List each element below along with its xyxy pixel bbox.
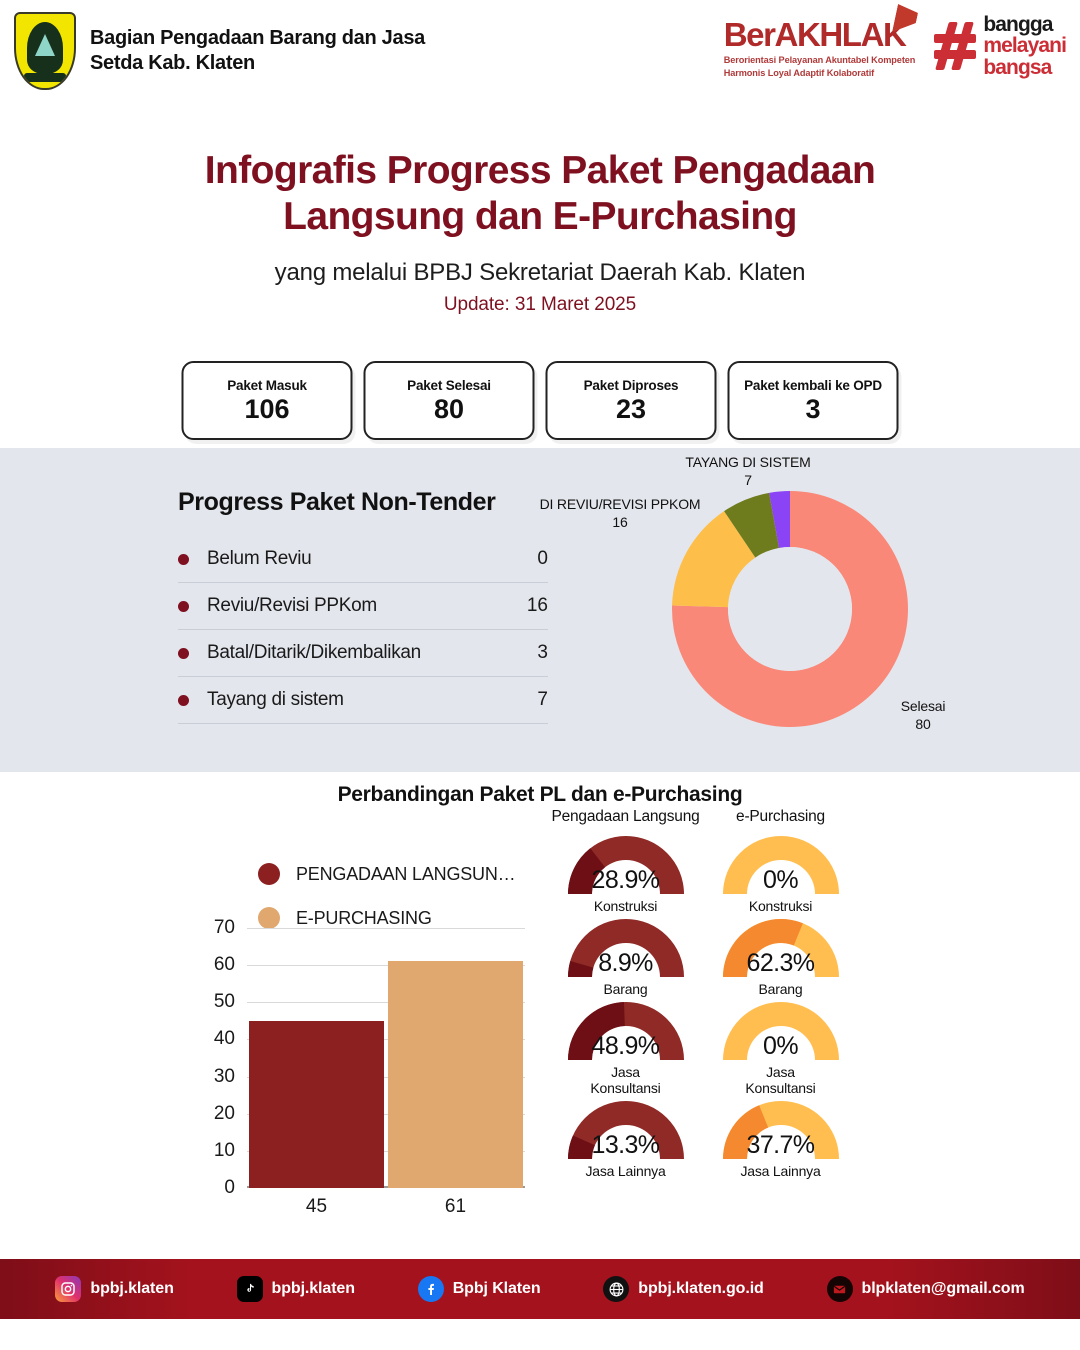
footer-label: bpbj.klaten	[90, 1280, 173, 1298]
gauge-percent-value: 37.7%	[719, 1133, 843, 1158]
legend-swatch	[258, 863, 280, 885]
gauge-percent-value: 0%	[719, 1034, 843, 1059]
gauge-visual: 48.9%	[564, 998, 688, 1062]
donut-label-value: 16	[530, 514, 710, 532]
stat-value: 3	[805, 396, 820, 423]
gauge-caption: JasaKonsultansi	[745, 1064, 815, 1098]
donut-label-name: DI REVIU/REVISI PPKOM	[530, 496, 710, 514]
gauge-rows: 28.9%Konstruksi0%Konstruksi8.9%Barang62.…	[548, 832, 858, 1180]
berakhlak-tagline-line-1: Berorientasi Pelayanan Akuntabel Kompete…	[724, 54, 916, 67]
page-title-line-2: Langsung dan E-Purchasing	[0, 194, 1080, 240]
gauge-grid: Pengadaan Langsung e-Purchasing 28.9%Kon…	[548, 808, 858, 1180]
gauge-visual: 62.3%	[719, 915, 843, 979]
gauge-row: 8.9%Barang62.3%Barang	[548, 915, 858, 998]
list-item-label: Tayang di sistem	[207, 689, 537, 711]
gauge-visual: 37.7%	[719, 1097, 843, 1161]
bangga-word-3: bangsa	[983, 57, 1066, 78]
berakhlak-wordmark: BerAKHLAK	[724, 18, 916, 51]
bangga-word-2: melayani	[983, 35, 1066, 56]
bullet-icon	[178, 554, 189, 565]
list-item-label: Batal/Ditarik/Dikembalikan	[207, 642, 537, 664]
summary-stat-cards: Paket Masuk 106 Paket Selesai 80 Paket D…	[182, 361, 899, 440]
gauge-cell: 28.9%Konstruksi	[548, 832, 703, 915]
berakhlak-logo: BerAKHLAK Berorientasi Pelayanan Akuntab…	[724, 14, 916, 81]
gauge-caption: Barang	[604, 981, 648, 998]
bangga-melayani-bangsa-logo: bangga melayani bangsa	[933, 14, 1066, 78]
instagram-icon	[55, 1276, 81, 1302]
berakhlak-tagline-line-2: Harmonis Loyal Adaptif Kolaboratif	[724, 67, 916, 80]
list-item: Batal/Ditarik/Dikembalikan 3	[178, 630, 548, 677]
gauge-caption: Jasa Lainnya	[585, 1163, 665, 1180]
legend-label: E-PURCHASING	[296, 908, 432, 929]
stat-label: Paket kembali ke OPD	[744, 378, 882, 393]
page-title: Infografis Progress Paket Pengadaan Lang…	[0, 148, 1080, 239]
list-item-value: 0	[537, 548, 548, 570]
non-tender-donut-chart: TAYANG DI SISTEM 7 DI REVIU/REVISI PPKOM…	[640, 474, 940, 744]
footer-label: bpbj.klaten	[272, 1280, 355, 1298]
stat-card-paket-kembali-opd: Paket kembali ke OPD 3	[728, 361, 899, 440]
gauge-percent-value: 0%	[719, 868, 843, 893]
gauge-cell: 13.3%Jasa Lainnya	[548, 1097, 703, 1180]
bar-chart-y-tick-label: 40	[195, 1028, 235, 1050]
gauge-cell: 48.9%JasaKonsultansi	[548, 998, 703, 1098]
gauge-percent-value: 13.3%	[564, 1133, 688, 1158]
bangga-word-1: bangga	[983, 14, 1066, 35]
donut-label-value: 7	[658, 472, 838, 490]
bar-chart-gridline	[247, 928, 525, 929]
legend-swatch	[258, 907, 280, 929]
comparison-bar-chart: 010203040506070 4561	[195, 928, 525, 1218]
donut-label-selesai: Selesai 80	[868, 698, 978, 733]
organization-brand: Bagian Pengadaan Barang dan Jasa Setda K…	[14, 12, 425, 90]
gauge-caption: Konstruksi	[594, 898, 657, 915]
gauge-row: 13.3%Jasa Lainnya37.7%Jasa Lainnya	[548, 1097, 858, 1180]
donut-label-tayang: TAYANG DI SISTEM 7	[658, 454, 838, 489]
gauge-cell: 0%JasaKonsultansi	[703, 998, 858, 1098]
gauge-visual: 28.9%	[564, 832, 688, 896]
stat-card-paket-selesai: Paket Selesai 80	[364, 361, 535, 440]
footer-item-tiktok[interactable]: bpbj.klaten	[237, 1276, 355, 1302]
globe-icon	[603, 1276, 629, 1302]
gauge-percent-value: 48.9%	[564, 1034, 688, 1059]
gauge-cell: 0%Konstruksi	[703, 832, 858, 915]
bar-chart-y-axis: 010203040506070	[195, 928, 235, 1188]
bar-chart-y-tick-label: 10	[195, 1140, 235, 1162]
hashtag-icon	[933, 22, 977, 70]
stat-card-paket-masuk: Paket Masuk 106	[182, 361, 353, 440]
footer-label: Bpbj Klaten	[453, 1280, 541, 1298]
title-block: Infografis Progress Paket Pengadaan Lang…	[0, 148, 1080, 316]
gauge-caption: Barang	[759, 981, 803, 998]
bar-chart-plot-area	[247, 928, 525, 1188]
footer-item-email[interactable]: blpklaten@gmail.com	[827, 1276, 1025, 1302]
stat-value: 23	[616, 396, 646, 423]
organization-line-2: Setda Kab. Klaten	[90, 51, 425, 76]
bar-chart-y-tick-label: 70	[195, 917, 235, 939]
email-icon	[827, 1276, 853, 1302]
gauge-percent-value: 8.9%	[564, 951, 688, 976]
list-item-label: Belum Reviu	[207, 548, 537, 570]
donut-label-name: Selesai	[868, 698, 978, 716]
legend-label: PENGADAAN LANGSUN…	[296, 864, 515, 885]
gauge-visual: 13.3%	[564, 1097, 688, 1161]
footer-label: bpbj.klaten.go.id	[638, 1280, 763, 1298]
gauge-caption: JasaKonsultansi	[590, 1064, 660, 1098]
page-subtitle: yang melalui BPBJ Sekretariat Daerah Kab…	[0, 259, 1080, 287]
header: Bagian Pengadaan Barang dan Jasa Setda K…	[0, 0, 1080, 110]
bullet-icon	[178, 648, 189, 659]
stat-card-paket-diproses: Paket Diproses 23	[546, 361, 717, 440]
update-date: Update: 31 Maret 2025	[0, 294, 1080, 316]
bar-chart-y-tick-label: 30	[195, 1066, 235, 1088]
stat-label: Paket Selesai	[407, 378, 491, 393]
list-item: Reviu/Revisi PPKom 16	[178, 583, 548, 630]
list-item: Tayang di sistem 7	[178, 677, 548, 724]
footer-item-instagram[interactable]: bpbj.klaten	[55, 1276, 173, 1302]
tiktok-icon	[237, 1276, 263, 1302]
stat-label: Paket Diproses	[584, 378, 679, 393]
organization-name: Bagian Pengadaan Barang dan Jasa Setda K…	[90, 26, 425, 76]
gauge-percent-value: 28.9%	[564, 868, 688, 893]
stat-value: 80	[434, 396, 464, 423]
stat-value: 106	[244, 396, 289, 423]
donut-label-value: 80	[868, 716, 978, 734]
footer-contact-bar: bpbj.klaten bpbj.klaten Bpbj Klaten	[0, 1259, 1080, 1319]
bar-chart-legend: PENGADAAN LANGSUN… E-PURCHASING	[258, 852, 515, 940]
comparison-title: Perbandingan Paket PL dan e-Purchasing	[0, 783, 1080, 807]
bar-chart-y-tick-label: 50	[195, 991, 235, 1013]
gauge-visual: 0%	[719, 998, 843, 1062]
klaten-emblem-icon	[14, 12, 76, 90]
gauge-row: 28.9%Konstruksi0%Konstruksi	[548, 832, 858, 915]
gauge-visual: 0%	[719, 832, 843, 896]
gauge-column-header-left: Pengadaan Langsung	[548, 808, 703, 826]
bar-chart-y-tick-label: 20	[195, 1103, 235, 1125]
organization-line-1: Bagian Pengadaan Barang dan Jasa	[90, 26, 425, 51]
list-item-value: 3	[537, 642, 548, 664]
footer-item-facebook[interactable]: Bpbj Klaten	[418, 1276, 541, 1302]
bullet-icon	[178, 601, 189, 612]
gauge-cell: 37.7%Jasa Lainnya	[703, 1097, 858, 1180]
footer-label: blpklaten@gmail.com	[862, 1280, 1025, 1298]
berakhlak-tagline: Berorientasi Pelayanan Akuntabel Kompete…	[724, 54, 916, 81]
list-item: Belum Reviu 0	[178, 536, 548, 583]
gauge-cell: 62.3%Barang	[703, 915, 858, 998]
donut-label-reviu: DI REVIU/REVISI PPKOM 16	[530, 496, 710, 531]
bar-chart-y-tick-label: 60	[195, 954, 235, 976]
gauge-column-headers: Pengadaan Langsung e-Purchasing	[548, 808, 858, 826]
gauge-row: 48.9%JasaKonsultansi0%JasaKonsultansi	[548, 998, 858, 1098]
gauge-percent-value: 62.3%	[719, 951, 843, 976]
bar-chart-x-axis-labels: 4561	[247, 1196, 525, 1218]
facebook-icon	[418, 1276, 444, 1302]
list-item-label: Reviu/Revisi PPKom	[207, 595, 527, 617]
bar-chart-x-tick-label: 45	[247, 1196, 386, 1218]
page-title-line-1: Infografis Progress Paket Pengadaan	[0, 148, 1080, 194]
donut-label-name: TAYANG DI SISTEM	[658, 454, 838, 472]
non-tender-list: Belum Reviu 0 Reviu/Revisi PPKom 16 Bata…	[178, 536, 548, 724]
gauge-column-header-right: e-Purchasing	[703, 808, 858, 826]
list-item-value: 16	[527, 595, 548, 617]
infographic-page: Bagian Pengadaan Barang dan Jasa Setda K…	[0, 0, 1080, 1350]
stat-label: Paket Masuk	[227, 378, 307, 393]
footer-item-website[interactable]: bpbj.klaten.go.id	[603, 1276, 763, 1302]
gauge-caption: Konstruksi	[749, 898, 812, 915]
partner-logos: BerAKHLAK Berorientasi Pelayanan Akuntab…	[724, 14, 1066, 81]
gauge-cell: 8.9%Barang	[548, 915, 703, 998]
bar-chart-x-tick-label: 61	[386, 1196, 525, 1218]
list-item-value: 7	[537, 689, 548, 711]
bullet-icon	[178, 695, 189, 706]
gauge-visual: 8.9%	[564, 915, 688, 979]
bar-chart-y-tick-label: 0	[195, 1177, 235, 1199]
bar-chart-bar	[388, 961, 524, 1188]
non-tender-title: Progress Paket Non-Tender	[178, 488, 495, 517]
non-tender-section: Progress Paket Non-Tender Belum Reviu 0 …	[0, 448, 1080, 772]
legend-item-pengadaan-langsung: PENGADAAN LANGSUN…	[258, 852, 515, 896]
gauge-caption: Jasa Lainnya	[740, 1163, 820, 1180]
bar-chart-bar	[249, 1021, 385, 1188]
